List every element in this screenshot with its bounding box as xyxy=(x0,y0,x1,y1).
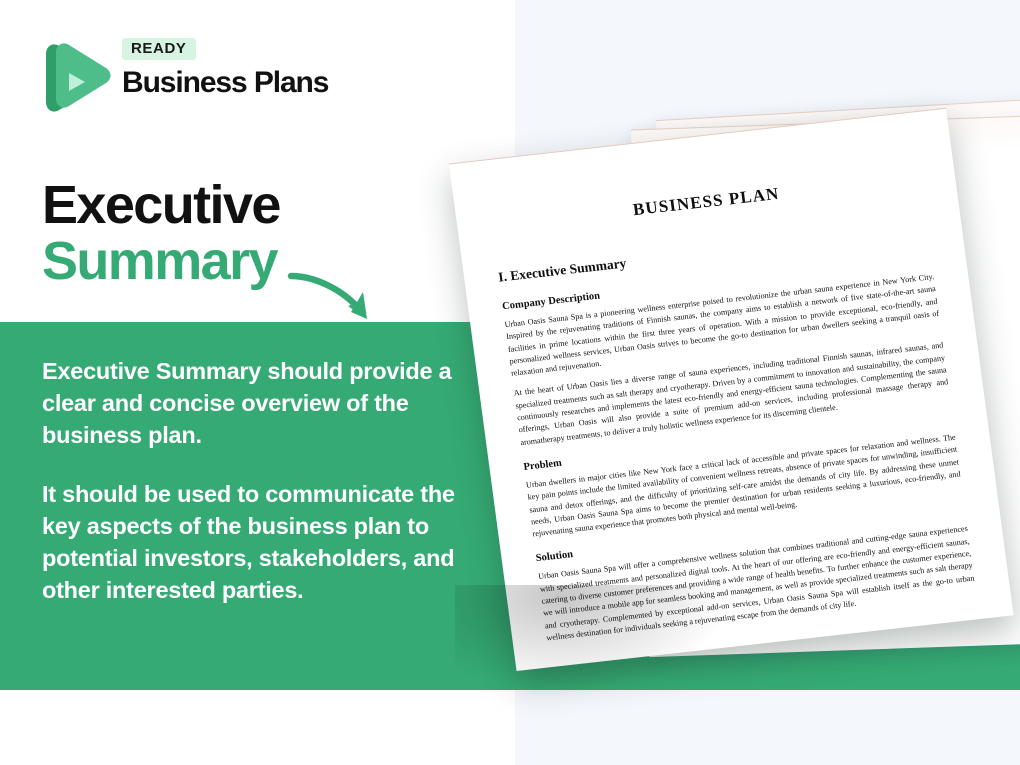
play-triangle-logo-icon xyxy=(40,40,114,116)
summary-paragraph-2: It should be used to communicate the key… xyxy=(42,478,494,607)
curved-arrow-down-right-icon xyxy=(285,262,385,332)
document-section-heading: I. Executive Summary xyxy=(497,222,929,286)
brand-name: Business Plans xyxy=(122,67,328,99)
ready-badge: READY xyxy=(122,38,196,60)
summary-description: Executive Summary should provide a clear… xyxy=(42,355,494,606)
page-title: Executive Summary xyxy=(42,178,280,288)
document-content: BUSINESS PLAN I. Executive Summary Compa… xyxy=(449,109,1014,671)
brand-logo[interactable]: READY Business Plans xyxy=(40,36,340,120)
summary-paragraph-1: Executive Summary should provide a clear… xyxy=(42,355,494,452)
brand-wordmark-group: READY Business Plans xyxy=(122,38,328,99)
page-title-line2: Summary xyxy=(42,234,280,288)
document-title: BUSINESS PLAN xyxy=(490,168,922,236)
slide-canvas: READY Business Plans Executive Summary E… xyxy=(0,0,1020,765)
page-title-line1: Executive xyxy=(42,178,280,232)
document-paragraph: Urban Oasis Sauna Spa will offer a compr… xyxy=(538,523,977,644)
document-page-front[interactable]: BUSINESS PLAN I. Executive Summary Compa… xyxy=(449,108,1014,671)
